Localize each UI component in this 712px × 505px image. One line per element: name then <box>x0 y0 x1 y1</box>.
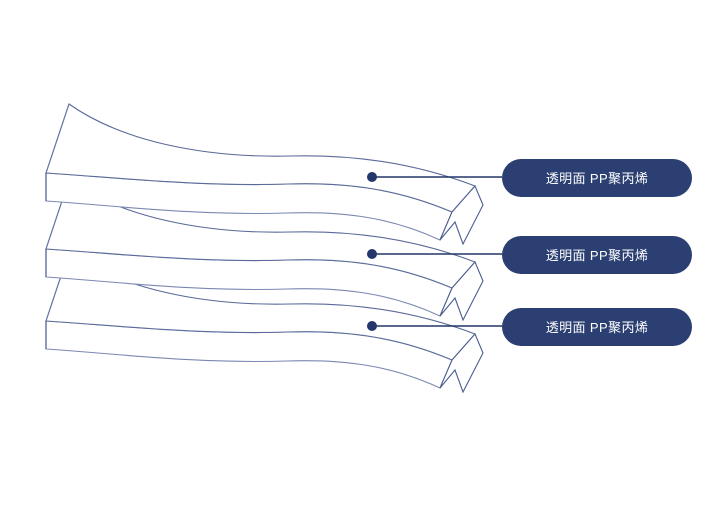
connector-dot-top <box>367 172 377 182</box>
label-pill-middle-text: 透明面 PP聚丙烯 <box>546 249 649 262</box>
label-pill-bottom-text: 透明面 PP聚丙烯 <box>546 321 649 334</box>
connector-dot-bottom <box>367 321 377 331</box>
label-pill-top-text: 透明面 PP聚丙烯 <box>546 172 649 185</box>
layered-material-diagram: 透明面 PP聚丙烯 透明面 PP聚丙烯 透明面 PP聚丙烯 <box>0 0 712 505</box>
label-pill-middle[interactable]: 透明面 PP聚丙烯 <box>502 236 692 274</box>
label-pill-bottom[interactable]: 透明面 PP聚丙烯 <box>502 308 692 346</box>
label-pill-top[interactable]: 透明面 PP聚丙烯 <box>502 159 692 197</box>
connector-dot-middle <box>367 249 377 259</box>
